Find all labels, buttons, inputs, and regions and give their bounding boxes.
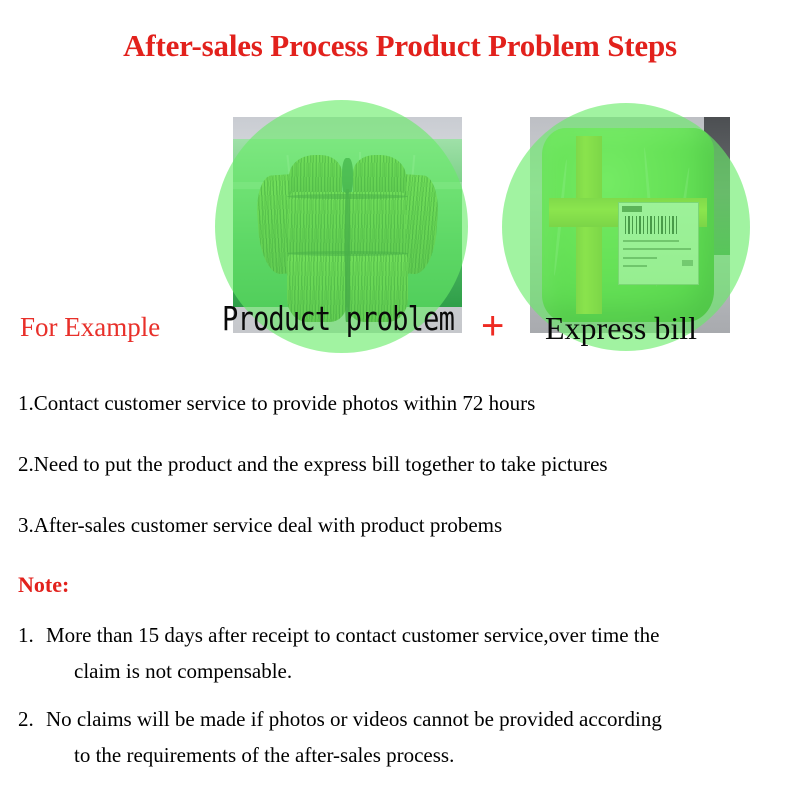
note-item-1-line-2: claim is not compensable. (46, 653, 793, 689)
note-item-2-number: 2. (18, 701, 46, 737)
label-text-line (623, 265, 647, 267)
express-bill-caption: Express bill (545, 312, 697, 344)
label-text-line (623, 257, 656, 259)
note-item-1-line-1: More than 15 days after receipt to conta… (46, 623, 659, 647)
fur-jacket-graphic (258, 152, 437, 323)
note-item-2-line-2: to the requirements of the after-sales p… (46, 737, 793, 773)
express-bill-photo (530, 117, 730, 333)
page-title: After-sales Process Product Problem Step… (0, 28, 800, 64)
step-item-3: 3.After-sales customer service deal with… (18, 515, 788, 536)
product-problem-caption: Product problem (222, 302, 454, 335)
package-bag-graphic (542, 128, 714, 322)
barcode-icon (625, 216, 677, 234)
express-photo-frame (530, 117, 730, 333)
label-stamp-block (682, 260, 693, 267)
note-item-2: 2.No claims will be made if photos or vi… (18, 701, 793, 773)
note-item-1-number: 1. (18, 617, 46, 653)
step-item-2: 2.Need to put the product and the expres… (18, 454, 788, 475)
plus-icon: + (481, 306, 504, 346)
note-item-1: 1.More than 15 days after receipt to con… (18, 617, 793, 689)
label-header-block (622, 206, 643, 213)
label-text-line (623, 248, 691, 250)
label-text-line (623, 240, 678, 242)
steps-list: 1.Contact customer service to provide ph… (18, 393, 788, 576)
note-item-2-line-1: No claims will be made if photos or vide… (46, 707, 662, 731)
shipping-label (618, 202, 699, 286)
note-heading: Note: (18, 572, 69, 598)
for-example-label: For Example (20, 312, 160, 343)
step-item-1: 1.Contact customer service to provide ph… (18, 393, 788, 414)
example-row: For Example (0, 100, 800, 355)
note-list: 1.More than 15 days after receipt to con… (18, 617, 793, 785)
